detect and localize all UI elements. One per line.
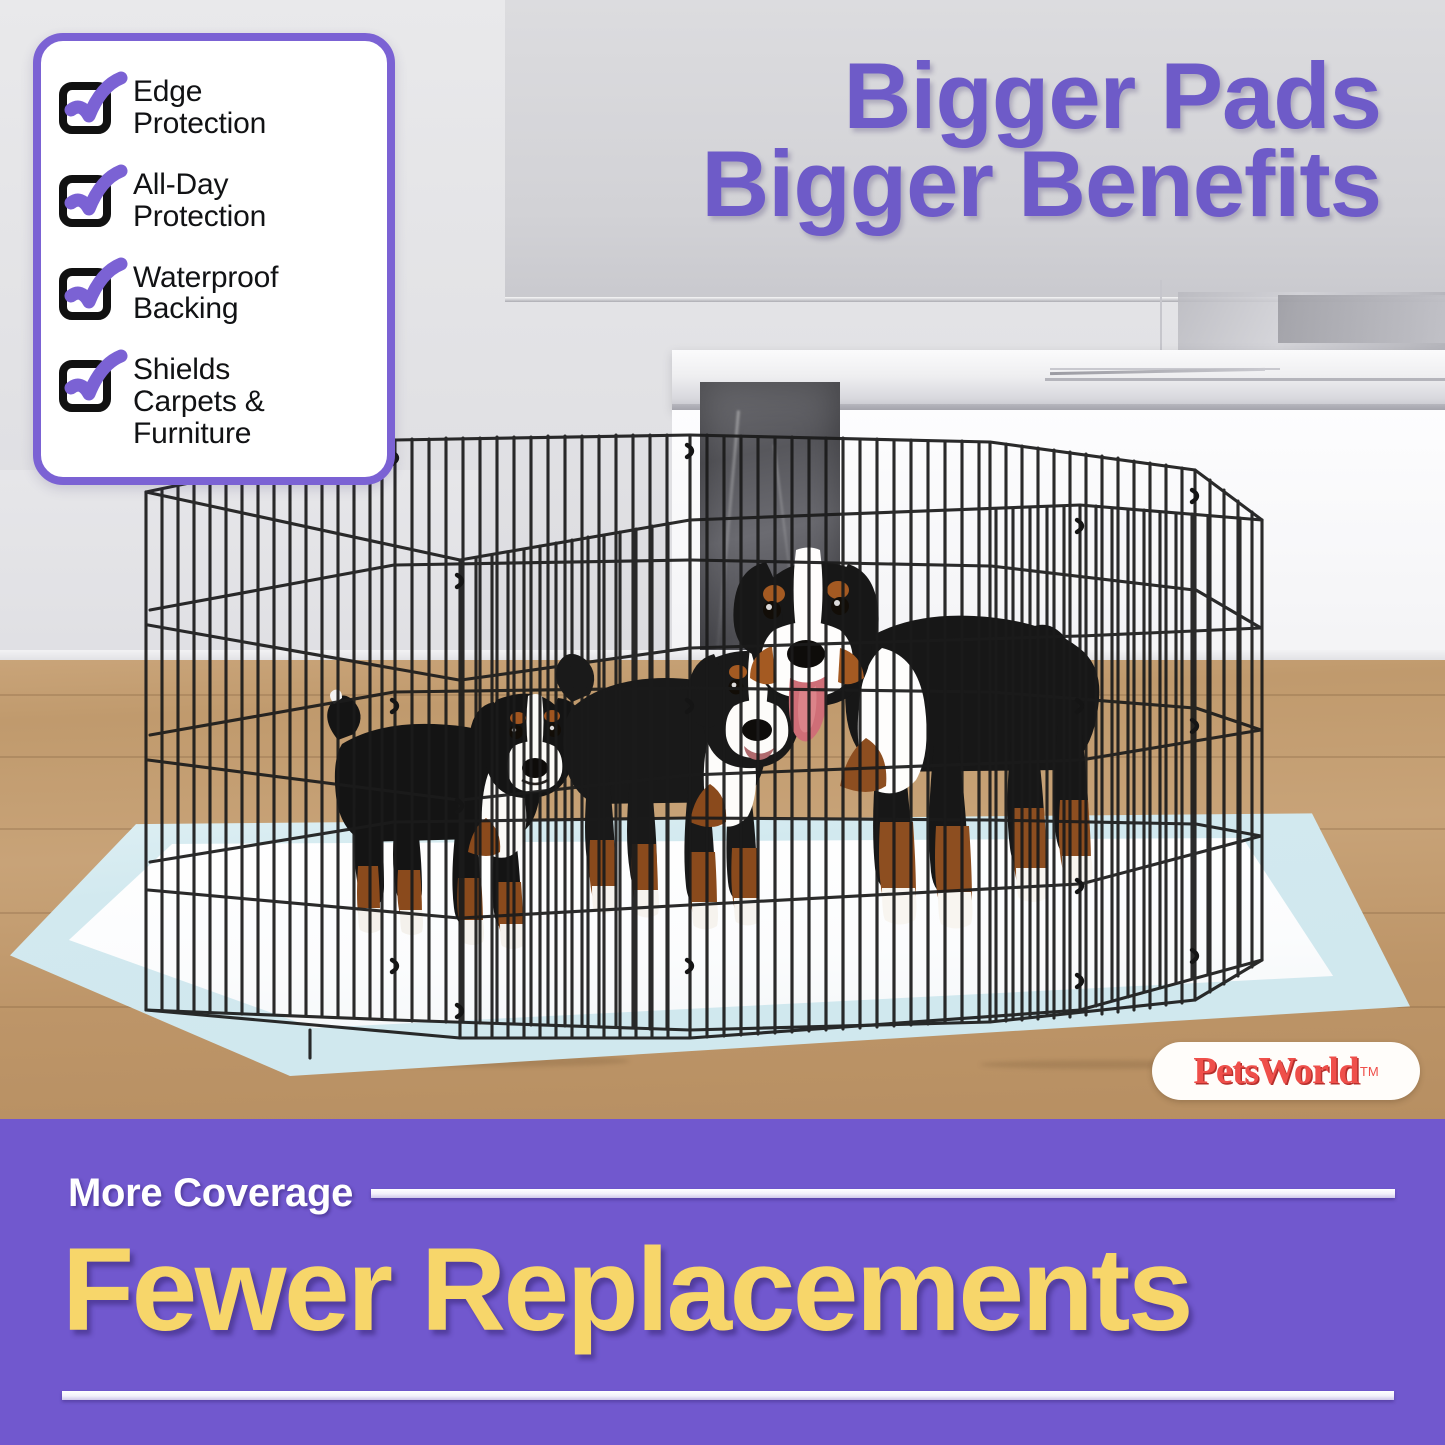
feature-item-shields-carpets-furniture: Shields Carpets & Furniture xyxy=(57,352,373,449)
banner-divider-top xyxy=(371,1189,1395,1198)
brand-logo: PetsWorldTM xyxy=(1152,1042,1420,1100)
banner-headline: Fewer Replacements xyxy=(62,1231,1405,1349)
page-title: Bigger Pads Bigger Benefits xyxy=(701,52,1381,229)
brand-name: PetsWorld xyxy=(1193,1049,1359,1093)
trademark-symbol: TM xyxy=(1360,1064,1379,1079)
cabinet-shadow-line xyxy=(1045,378,1445,381)
banner-divider-bottom xyxy=(62,1391,1394,1400)
feature-label: Edge Protection xyxy=(133,74,266,140)
checkbox-checked-icon xyxy=(57,169,119,225)
bottom-banner: More Coverage Fewer Replacements xyxy=(0,1119,1445,1445)
feature-label: Shields Carpets & Furniture xyxy=(133,352,265,449)
dog-right xyxy=(760,520,1120,980)
features-card: Edge Protection All-Day Protection Water… xyxy=(33,33,395,485)
feature-item-waterproof-backing: Waterproof Backing xyxy=(57,260,373,326)
product-infographic: PetsWorldTM Edge Protection All-Day Prot… xyxy=(0,0,1445,1445)
banner-kicker: More Coverage xyxy=(68,1171,353,1216)
cabinet-glass-reflection-2 xyxy=(1278,295,1445,343)
feature-label: Waterproof Backing xyxy=(133,260,278,326)
feature-item-all-day-protection: All-Day Protection xyxy=(57,167,373,233)
headline-line-2: Bigger Benefits xyxy=(701,140,1381,228)
checkbox-checked-icon xyxy=(57,262,119,318)
feature-item-edge-protection: Edge Protection xyxy=(57,74,373,140)
checkbox-checked-icon xyxy=(57,354,119,410)
checkbox-checked-icon xyxy=(57,76,119,132)
banner-kicker-row: More Coverage xyxy=(68,1171,1395,1216)
feature-label: All-Day Protection xyxy=(133,167,266,233)
